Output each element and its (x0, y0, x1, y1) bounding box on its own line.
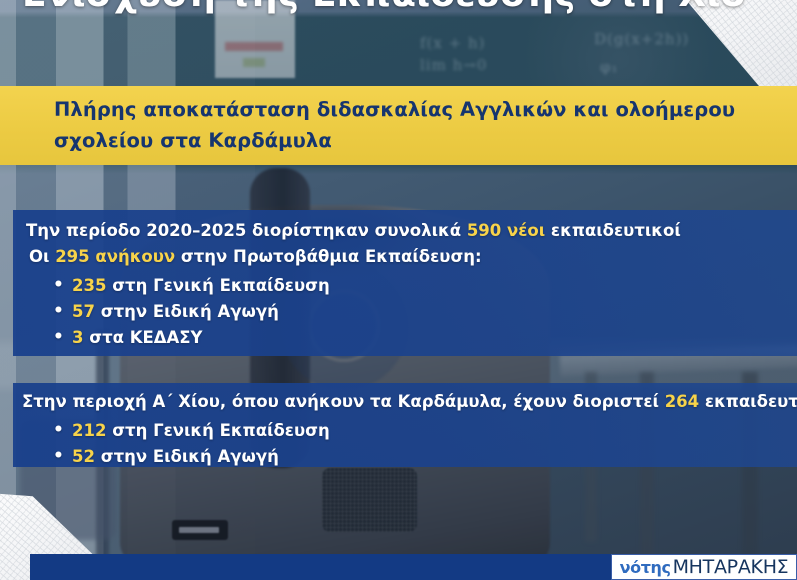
list-item: 57 στην Ειδική Αγωγή (13, 299, 797, 325)
logo-notis-mitarakis: νότηςΜΗΤΑΡΑΚΗΣ (611, 554, 797, 580)
list-item: 52 στην Ειδική Αγωγή (13, 444, 797, 470)
panel-a-line-2-highlight: 295 ανήκουν (55, 247, 175, 266)
panel-b-line-1-suffix: εκπαιδευτικοί: (699, 392, 797, 411)
chalkboard-text-line1: f(x + h) (420, 34, 485, 52)
bullet-label: στα ΚΕΔΑΣΥ (83, 328, 202, 347)
logo-first-name: νότης (620, 558, 671, 577)
panel-a-line-1-highlight: 590 νέοι (467, 221, 545, 240)
chalkboard-text-line3: D(g(x+2h)) (594, 30, 689, 48)
headline-banner-text: Πλήρης αποκατάσταση διδασκαλίας Αγγλικών… (54, 95, 757, 155)
bullet-label: στη Γενική Εκπαίδευση (106, 421, 329, 440)
bullet-label: στη Γενική Εκπαίδευση (106, 276, 329, 295)
panel-a-line-2-suffix: στην Πρωτοβάθμια Εκπαίδευση: (175, 247, 481, 266)
headline-banner: Πλήρης αποκατάσταση διδασκαλίας Αγγλικών… (0, 86, 797, 165)
list-item: 3 στα ΚΕΔΑΣΥ (13, 325, 797, 351)
bullet-value: 57 (72, 302, 95, 321)
bullet-label: στην Ειδική Αγωγή (95, 302, 279, 321)
panel-a-line-1-prefix: Την περίοδο 2020–2025 διορίστηκαν συνολι… (26, 221, 467, 240)
bullet-value: 212 (72, 421, 106, 440)
poster-green-bar (243, 58, 265, 67)
panel-b-line-1-prefix: Στην περιοχή Α΄ Χίου, όπου ανήκουν τα Κα… (22, 392, 665, 411)
bullet-value: 235 (72, 276, 106, 295)
stats-panel-primary-education: Την περίοδο 2020–2025 διορίστηκαν συνολι… (13, 210, 797, 356)
page-title: Ενίσχυση της Εκπαίδευσης στη Χίο (22, 0, 746, 15)
backpack-brand-tag (172, 520, 228, 540)
chalkboard-text-line2: lim h→0 (420, 56, 487, 74)
panel-a-line-1-suffix: εκπαιδευτικοί (545, 221, 681, 240)
list-item: 235 στη Γενική Εκπαίδευση (13, 273, 797, 299)
stats-panel-chios-region: Στην περιοχή Α΄ Χίου, όπου ανήκουν τα Κα… (13, 383, 797, 467)
panel-b-line-1: Στην περιοχή Α΄ Χίου, όπου ανήκουν τα Κα… (13, 383, 797, 415)
backpack-mesh-panel (322, 468, 417, 532)
logo-last-name: ΜΗΤΑΡΑΚΗΣ (673, 556, 789, 578)
panel-a-line-1: Την περίοδο 2020–2025 διορίστηκαν συνολι… (13, 210, 797, 244)
chalkboard-text-line4: φ₁ (600, 58, 619, 76)
panel-b-line-1-highlight: 264 (665, 392, 699, 411)
panel-a-line-2-prefix: Οι (29, 247, 55, 266)
panel-a-line-2: Οι 295 ανήκουν στην Πρωτοβάθμια Εκπαίδευ… (13, 244, 797, 270)
bullet-label: στην Ειδική Αγωγή (95, 447, 279, 466)
panel-b-bullet-list: 212 στη Γενική Εκπαίδευση 52 στην Ειδική… (13, 418, 797, 470)
page-title-band: Ενίσχυση της Εκπαίδευσης στη Χίο (0, 0, 797, 22)
poster-red-bar (225, 42, 283, 51)
bullet-value: 52 (72, 447, 95, 466)
list-item: 212 στη Γενική Εκπαίδευση (13, 418, 797, 444)
bullet-value: 3 (72, 328, 83, 347)
infographic-stage: f(x + h) lim h→0 D(g(x+2h)) φ₁ Ενίσχυση … (0, 0, 797, 580)
panel-a-bullet-list: 235 στη Γενική Εκπαίδευση 57 στην Ειδική… (13, 273, 797, 351)
